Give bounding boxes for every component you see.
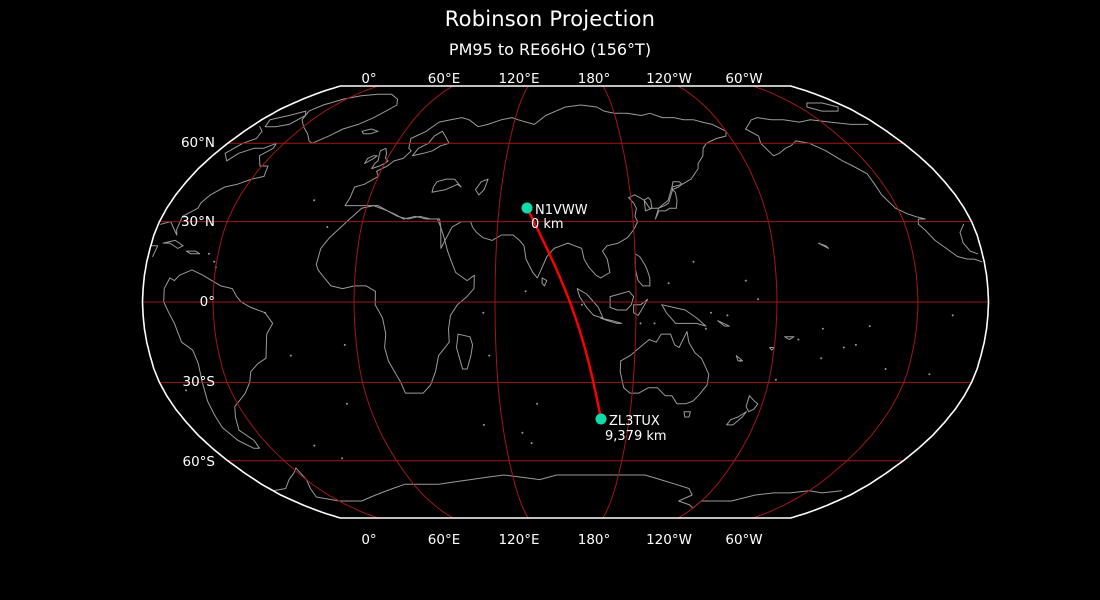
- island-speck: [213, 261, 215, 263]
- coastline: [163, 240, 183, 248]
- coastline: [746, 118, 868, 129]
- coastline: [662, 305, 706, 326]
- station-marker-N1VWW[interactable]: [522, 203, 533, 214]
- coastline: [457, 334, 473, 369]
- island-speck: [654, 322, 656, 324]
- island-speck: [313, 445, 315, 447]
- coastline: [186, 251, 199, 254]
- coastline: [164, 270, 273, 448]
- island-speck: [820, 357, 822, 359]
- coastline: [265, 111, 306, 127]
- coastlines-layer: [151, 94, 982, 508]
- coastline: [151, 246, 158, 257]
- coastline: [655, 190, 677, 219]
- island-speck: [344, 344, 346, 346]
- island-speck: [668, 282, 670, 284]
- island-speck: [521, 432, 523, 434]
- island-speck: [885, 368, 887, 370]
- coastline: [718, 321, 730, 326]
- island-speck: [264, 312, 266, 314]
- island-speck: [843, 347, 845, 349]
- map-svg: [0, 0, 1100, 600]
- island-speck: [640, 322, 642, 324]
- coastline: [635, 254, 650, 286]
- island-speck: [855, 344, 857, 346]
- great-circle-path: [527, 208, 601, 419]
- island-speck: [797, 339, 799, 341]
- island-speck: [739, 360, 741, 362]
- map-visualization: Robinson Projection PM95 to RE66HO (156°…: [0, 0, 1100, 600]
- station-distance-label: 9,379 km: [605, 429, 667, 444]
- coastline: [746, 129, 982, 262]
- station-distance-label: 0 km: [531, 217, 564, 232]
- coastline: [273, 468, 701, 508]
- island-speck: [952, 314, 954, 316]
- coastline: [644, 198, 652, 211]
- longitude-tick-label: 60°E: [428, 71, 460, 87]
- island-speck: [726, 314, 728, 316]
- latitude-tick-label: 30°N: [181, 214, 215, 230]
- latitude-tick-label: 60°S: [183, 454, 216, 470]
- longitude-tick-label: 180°: [578, 71, 611, 87]
- coastline: [365, 156, 378, 164]
- island-speck: [745, 280, 747, 282]
- island-speck: [326, 226, 328, 228]
- coastline: [818, 243, 828, 248]
- island-speck: [710, 312, 712, 314]
- island-speck: [705, 328, 707, 330]
- island-speck: [693, 261, 695, 263]
- coastline: [701, 491, 841, 501]
- island-speck: [581, 304, 583, 306]
- longitude-tick-label: 120°E: [498, 532, 539, 548]
- station-callsign-label: N1VWW: [535, 203, 588, 218]
- coastline: [736, 356, 742, 361]
- map-canvas: [0, 0, 1100, 600]
- coastline: [601, 318, 622, 323]
- latitude-tick-label: 30°S: [183, 374, 216, 390]
- island-speck: [290, 355, 292, 357]
- longitude-tick-label: 0°: [361, 532, 376, 548]
- island-speck: [822, 328, 824, 330]
- island-speck: [757, 298, 759, 300]
- coastline: [785, 337, 794, 340]
- island-speck: [531, 442, 533, 444]
- island-speck: [483, 424, 485, 426]
- coastline: [727, 412, 747, 425]
- island-speck: [525, 290, 527, 292]
- longitude-tick-label: 180°: [578, 532, 611, 548]
- longitude-tick-label: 60°W: [725, 532, 762, 548]
- island-speck: [869, 325, 871, 327]
- longitude-tick-label: 60°W: [725, 71, 762, 87]
- station-markers-layer: [522, 203, 607, 425]
- coastline: [432, 179, 461, 192]
- latitude-tick-label: 60°N: [181, 135, 215, 151]
- longitude-tick-label: 60°E: [428, 532, 460, 548]
- coastline: [302, 94, 398, 143]
- longitude-tick-label: 0°: [361, 71, 376, 87]
- island-speck: [341, 457, 343, 459]
- great-circle-path: [527, 208, 601, 419]
- coastline: [684, 412, 690, 417]
- island-speck: [928, 373, 930, 375]
- coastline: [746, 396, 758, 412]
- coastline: [362, 129, 378, 134]
- island-speck: [536, 403, 538, 405]
- longitude-tick-label: 120°E: [498, 71, 539, 87]
- station-marker-ZL3TUX[interactable]: [596, 414, 607, 425]
- coastline: [610, 291, 634, 310]
- island-speck: [482, 312, 484, 314]
- island-speck: [488, 355, 490, 357]
- coastline: [542, 278, 547, 286]
- longitude-tick-label: 120°W: [646, 532, 692, 548]
- island-speck: [775, 379, 777, 381]
- station-callsign-label: ZL3TUX: [609, 414, 660, 429]
- coastline: [620, 332, 709, 404]
- coastline: [345, 105, 726, 278]
- island-speck: [346, 403, 348, 405]
- coastline: [577, 289, 603, 319]
- coastline: [316, 206, 474, 394]
- coastline: [476, 179, 489, 195]
- island-speck: [313, 199, 315, 201]
- latitude-tick-label: 0°: [200, 294, 215, 310]
- coastline: [807, 103, 838, 111]
- island-speck: [208, 253, 210, 255]
- longitude-tick-label: 120°W: [646, 71, 692, 87]
